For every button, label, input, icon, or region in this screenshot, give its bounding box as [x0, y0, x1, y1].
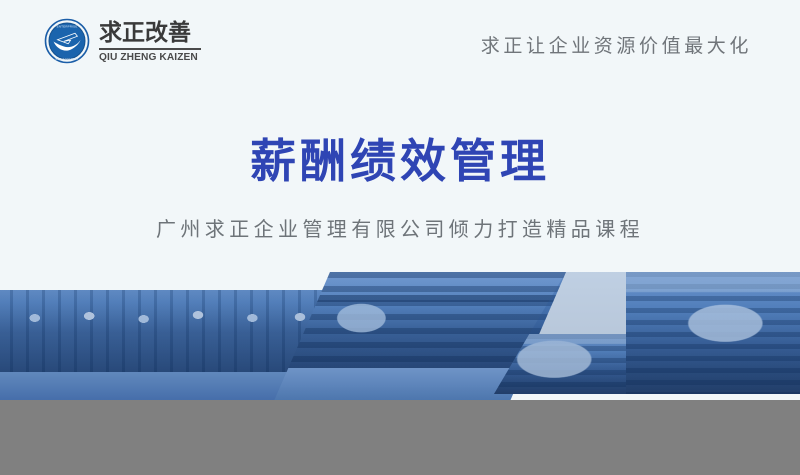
slide-header: ENTERPRISE MANAGEMENT 求正改善 QIU ZHENG KAI… [0, 0, 800, 92]
brand-name-en: QIU ZHENG KAIZEN [99, 51, 198, 63]
page-subtitle: 广州求正企业管理有限公司倾力打造精品课程 [0, 214, 800, 244]
gray-floor-band [0, 400, 800, 475]
qiuzheng-circular-emblem-icon: ENTERPRISE MANAGEMENT [44, 18, 90, 64]
brand-lockup: ENTERPRISE MANAGEMENT 求正改善 QIU ZHENG KAI… [44, 18, 201, 64]
page-title: 薪酬绩效管理 [0, 132, 800, 190]
photo-conference-hall [626, 272, 800, 394]
svg-text:ENTERPRISE: ENTERPRISE [57, 25, 78, 29]
presentation-slide: ENTERPRISE MANAGEMENT 求正改善 QIU ZHENG KAI… [0, 0, 800, 475]
brand-divider-rule [99, 48, 201, 50]
svg-text:MANAGEMENT: MANAGEMENT [55, 57, 78, 61]
title-block: 薪酬绩效管理 广州求正企业管理有限公司倾力打造精品课程 [0, 132, 800, 244]
header-tagline: 求正让企业资源价值最大化 [481, 31, 752, 58]
brand-text: 求正改善 QIU ZHENG KAIZEN [99, 20, 201, 63]
photo-collage [0, 272, 800, 475]
brand-name-cn: 求正改善 [99, 20, 201, 46]
